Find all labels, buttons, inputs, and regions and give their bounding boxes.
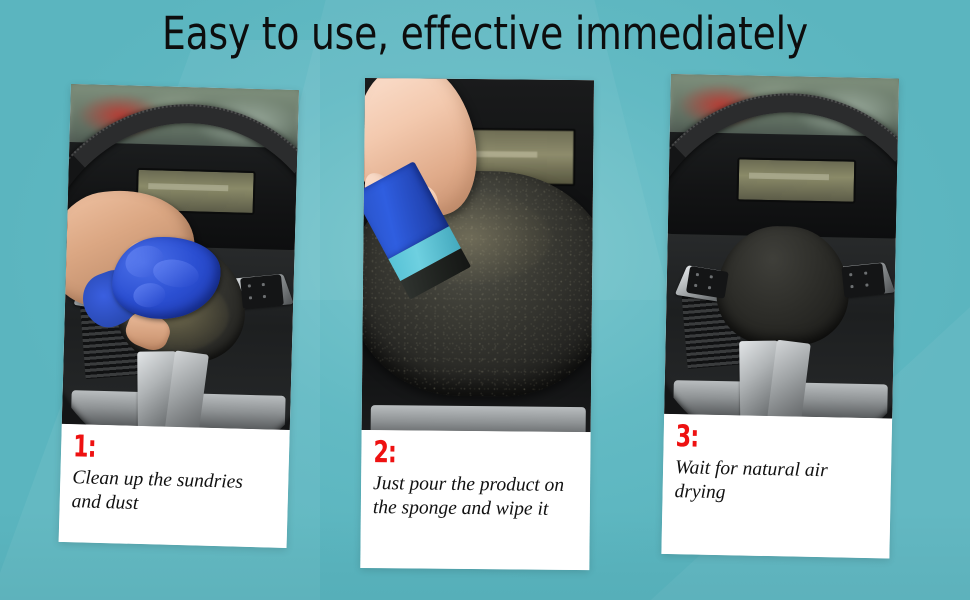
step-number-2: 2: xyxy=(373,438,541,470)
scene-wipe-wheel xyxy=(62,84,299,430)
step-caption-1: 1: Clean up the sundries and dust xyxy=(59,424,290,548)
step-caption-3: 3: Wait for natural air drying xyxy=(661,414,892,559)
center-console-trim xyxy=(371,405,587,432)
step-text-1: Clean up the sundries and dust xyxy=(71,466,276,519)
scene-sponge-apply xyxy=(362,78,594,432)
steering-button-dot xyxy=(262,283,265,286)
steering-button-dot xyxy=(263,295,266,298)
step-card-2: 2: Just pour the product on the sponge a… xyxy=(360,78,594,570)
steering-button-dot xyxy=(249,296,252,299)
steering-button-dot xyxy=(864,271,867,274)
step-text-3: Wait for natural air drying xyxy=(674,456,879,508)
steering-button-dot xyxy=(707,286,710,289)
step-number-1: 1: xyxy=(73,432,241,467)
step-photo-3 xyxy=(664,74,899,419)
steering-button-pad-right xyxy=(240,274,284,308)
steering-button-dot xyxy=(248,284,251,287)
steering-button-dot xyxy=(850,285,853,288)
page-title: Easy to use, effective immediately xyxy=(34,10,936,57)
steering-button-dot xyxy=(693,283,696,286)
steering-button-dot xyxy=(695,273,698,276)
steering-button-dot xyxy=(849,273,852,276)
step-photo-2 xyxy=(362,78,594,432)
step-caption-2: 2: Just pour the product on the sponge a… xyxy=(360,430,590,570)
steering-button-dot xyxy=(709,275,712,278)
step-number-3: 3: xyxy=(675,422,843,455)
steering-button-dot xyxy=(865,283,868,286)
scene-clean-wheel xyxy=(664,74,899,419)
step-card-3: 3: Wait for natural air drying xyxy=(661,74,899,558)
step-photo-1 xyxy=(62,84,299,430)
steering-button-pad-right xyxy=(841,263,885,298)
step-card-1: 1: Clean up the sundries and dust xyxy=(59,84,299,548)
step-text-2: Just pour the product on the sponge and … xyxy=(373,472,578,522)
